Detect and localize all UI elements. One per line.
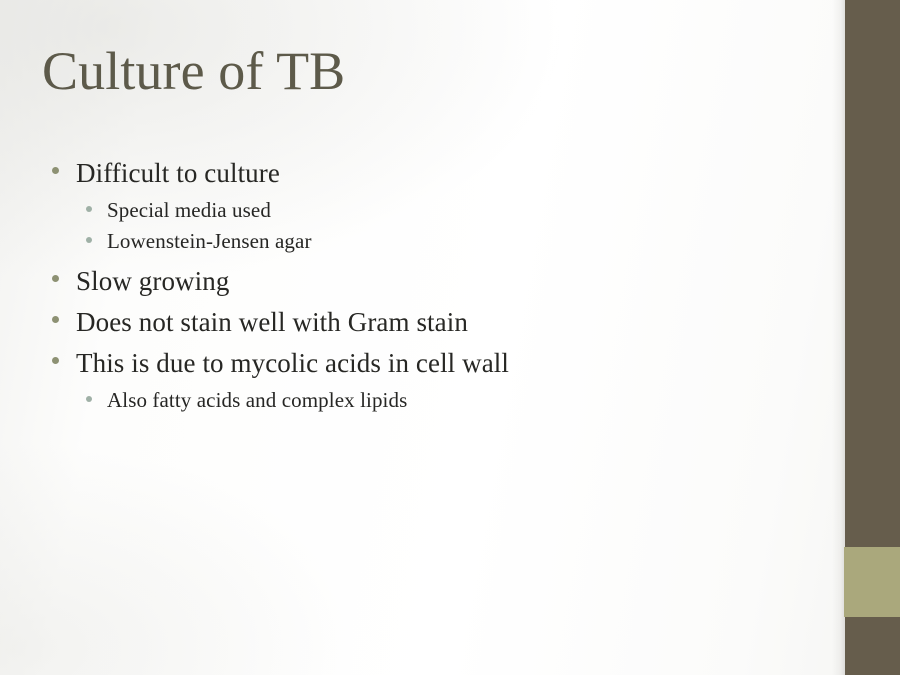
bullet-dot-icon [52, 316, 59, 323]
bullet-text: Lowenstein-Jensen agar [107, 227, 312, 257]
bullet-item-level2: Also fatty acids and complex lipids [0, 386, 820, 416]
slide: Culture of TB Difficult to culture Speci… [0, 0, 900, 675]
right-decorative-band-accent [844, 547, 900, 617]
bullet-dot-icon [52, 167, 59, 174]
bullet-dot-icon [86, 237, 92, 243]
bullet-item-level2: Lowenstein-Jensen agar [0, 227, 820, 257]
bullet-item-level1: Does not stain well with Gram stain [0, 304, 820, 341]
bullet-dot-icon [86, 396, 92, 402]
bullet-text: Slow growing [76, 263, 229, 300]
bullet-dot-icon [86, 206, 92, 212]
bullet-text: Difficult to culture [76, 155, 280, 192]
slide-body: Difficult to culture Special media used … [0, 155, 820, 416]
bullet-text: Special media used [107, 196, 271, 226]
slide-title: Culture of TB [42, 42, 742, 100]
bullet-text: Also fatty acids and complex lipids [107, 386, 407, 416]
bullet-item-level1: This is due to mycolic acids in cell wal… [0, 345, 820, 382]
bullet-text: This is due to mycolic acids in cell wal… [76, 345, 509, 382]
bullet-dot-icon [52, 275, 59, 282]
bullet-item-level2: Special media used [0, 196, 820, 226]
bullet-item-level1: Difficult to culture [0, 155, 820, 192]
bullet-text: Does not stain well with Gram stain [76, 304, 468, 341]
bullet-dot-icon [52, 357, 59, 364]
bullet-item-level1: Slow growing [0, 263, 820, 300]
